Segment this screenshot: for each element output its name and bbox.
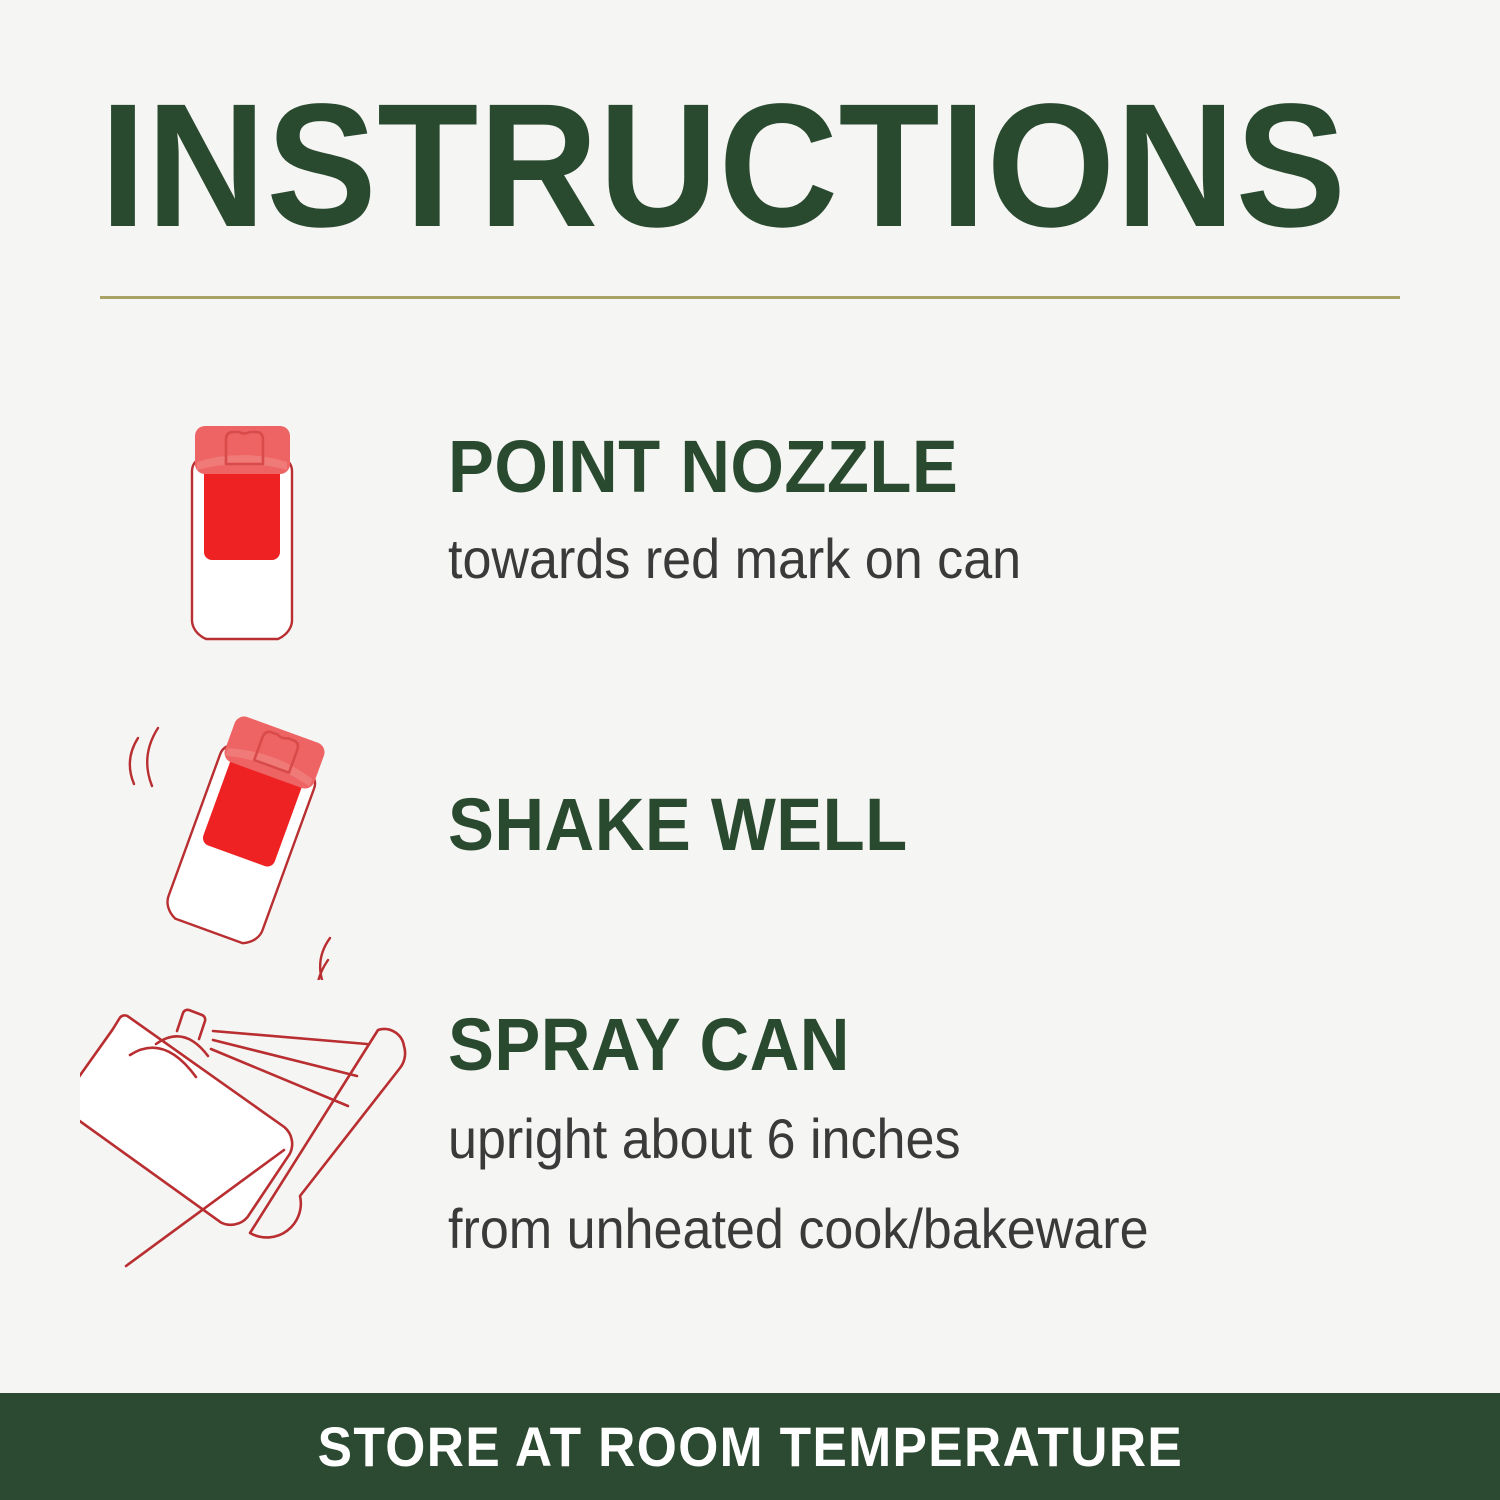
spray-can-upright-icon [80,412,420,672]
banner-text: STORE AT ROOM TEMPERATURE [317,1414,1183,1479]
step-shake-well-text: SHAKE WELL [448,788,1448,862]
title-divider [100,296,1400,299]
step-heading: SHAKE WELL [448,788,1378,862]
step-shake-well: SHAKE WELL [0,700,1500,960]
spray-can-shaking-icon [80,700,420,960]
banner-text-wrap: STORE AT ROOM TEMPERATURE [0,1393,1500,1500]
page-title: INSTRUCTIONS [100,78,1322,254]
step-subtext-line: from unheated cook/bakeware [448,1196,1378,1262]
step-heading: POINT NOZZLE [448,430,1378,504]
step-heading: SPRAY CAN [448,1008,1378,1082]
step-subtext-line: upright about 6 inches [448,1106,1378,1172]
spray-can-spraying-pan-icon [80,1000,420,1270]
step-spray-can-text: SPRAY CAN upright about 6 inches from un… [448,1008,1448,1262]
step-point-nozzle: POINT NOZZLE towards red mark on can [0,412,1500,672]
step-spray-can: SPRAY CAN upright about 6 inches from un… [0,1000,1500,1260]
store-temperature-banner: STORE AT ROOM TEMPERATURE [0,1393,1500,1500]
step-point-nozzle-text: POINT NOZZLE towards red mark on can [448,430,1448,592]
step-subtext-line: towards red mark on can [448,526,1378,592]
title-block: INSTRUCTIONS [100,78,1400,254]
instructions-infographic: INSTRUCTIONS POINT NOZZLE towards red ma… [0,0,1500,1500]
